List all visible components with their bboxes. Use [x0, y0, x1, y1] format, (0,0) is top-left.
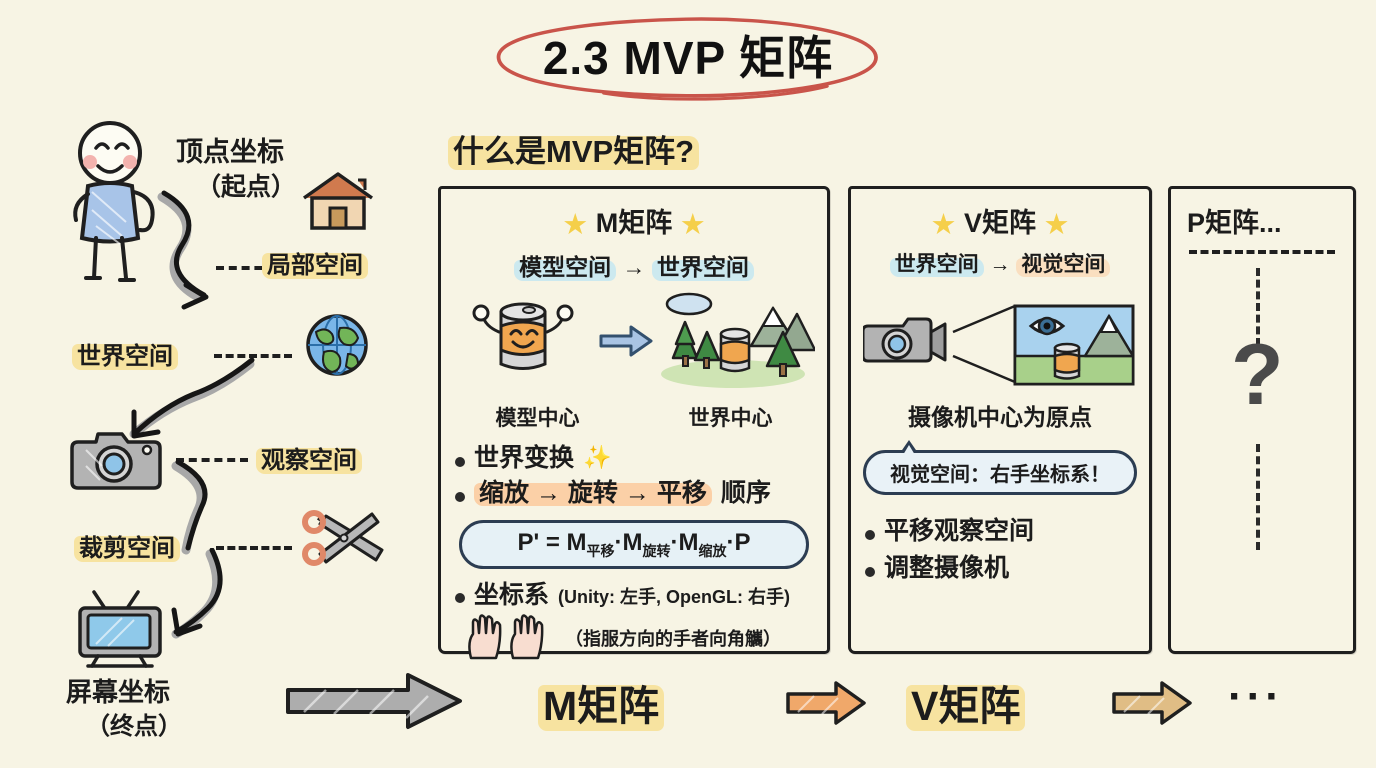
gray-arrow [284, 672, 464, 730]
flow-label-view-space: 观察空间 [256, 440, 362, 475]
camera-icon [68, 424, 164, 497]
card-m-title: M矩阵 [596, 208, 673, 238]
card-v-bullet-2-text: 调整摄像机 [884, 554, 1009, 583]
seq-rotate: 旋转 [568, 479, 618, 507]
page-title: 2.3 MVP 矩阵 [543, 22, 833, 88]
formula-rhs: ·P [727, 529, 751, 556]
card-m-title-row: ★ M矩阵 ★ [441, 201, 827, 242]
card-m-subtitle-from: 模型空间 [514, 248, 616, 282]
star-left-icon: ★ [930, 209, 956, 241]
flow-label-view-space-text: 观察空间 [256, 440, 362, 475]
section-heading-text: 什么是MVP矩阵? [448, 126, 699, 171]
card-m-matrix: ★ M矩阵 ★ 模型空间 → 世界空间 [438, 186, 830, 654]
card-m-coord-note: (Unity: 左手, OpenGL: 右手) [558, 587, 790, 608]
star-left-icon: ★ [562, 209, 588, 241]
can-character-icon [467, 292, 597, 388]
bullet-dot-icon [455, 492, 465, 502]
card-m-hands-note: （指服方向的手者向角觿） [565, 625, 781, 651]
star-right-icon: ★ [1044, 209, 1070, 241]
card-m-bullet-2: 缩放 → 旋转 → 平移 顺序 [455, 479, 827, 508]
orange-arrow [784, 680, 868, 726]
bottom-label-m: M矩阵 [538, 672, 664, 732]
sparkle-star-icon: ✨ [583, 444, 612, 470]
card-m-captions: 模型中心 世界中心 [441, 402, 827, 432]
infographic-canvas: 2.3 MVP 矩阵 顶点坐标 （起点） 局部空 [0, 0, 1376, 768]
flow-label-vertex: 顶点坐标 [176, 130, 284, 169]
card-v-title: V矩阵 [964, 208, 1036, 238]
card-v-diagram [851, 288, 1149, 392]
bottom-label-m-text: M矩阵 [538, 672, 664, 732]
star-right-icon: ★ [680, 209, 706, 241]
flow-sublabel-screen: （终点） [86, 706, 182, 741]
world-scene-icon [655, 288, 815, 392]
bullet-dot-icon [455, 593, 465, 603]
card-m-seq: 缩放 → 旋转 → 平移 [474, 479, 712, 508]
card-v-caption: 摄像机中心为原点 [851, 398, 1149, 432]
card-m-bullet-3: 坐标系 (Unity: 左手, OpenGL: 右手) [455, 581, 827, 610]
transform-arrow-icon [599, 324, 655, 358]
scissors-icon [300, 508, 386, 575]
bullet-dot-icon [455, 457, 465, 467]
formula-mid-2: ·M [671, 529, 699, 556]
card-m-caption-world: 世界中心 [689, 402, 773, 432]
flow-label-screen: 屏幕坐标 [66, 672, 170, 709]
flow-arrow-1-icon [150, 185, 280, 325]
flow-label-clip-space: 裁剪空间 [74, 528, 180, 563]
seq-arrow-1: → [536, 479, 561, 507]
card-p-matrix: P矩阵... ? [1168, 186, 1356, 654]
flow-label-world-space: 世界空间 [72, 336, 178, 371]
flow-arrow-3-icon [168, 460, 248, 560]
card-p-body: ? [1171, 268, 1353, 598]
formula-sub-translate: 平移 [587, 542, 615, 558]
card-v-matrix: ★ V矩阵 ★ 世界空间 → 视觉空间 [848, 186, 1152, 654]
flow-label-clip-space-text: 裁剪空间 [74, 528, 180, 563]
card-v-subtitle-arrow: → [990, 253, 1011, 276]
card-v-bullet-1-text: 平移观察空间 [884, 517, 1034, 546]
card-p-dash-lower [1256, 444, 1260, 550]
formula-sub-rotate: 旋转 [643, 542, 671, 558]
flow-label-local-space-text: 局部空间 [262, 245, 368, 280]
hand-palm-icon [461, 614, 547, 662]
bottom-label-v: V矩阵 [906, 672, 1025, 732]
card-m-diagram [441, 288, 827, 400]
section-heading: 什么是MVP矩阵? [448, 126, 699, 171]
card-m-hands-row: （指服方向的手者向角觿） [461, 614, 827, 662]
bottom-ellipsis: ··· [1228, 672, 1284, 722]
bullet-dot-icon [865, 530, 875, 540]
card-m-bullet-1-text: 世界变换 [474, 444, 574, 473]
formula-mid-1: ·M [615, 529, 643, 556]
house-icon [300, 168, 376, 239]
page-title-area: 2.3 MVP 矩阵 [0, 14, 1376, 100]
card-m-formula: P' = M平移·M旋转·M缩放·P [459, 520, 809, 570]
card-p-title: P矩阵... [1187, 201, 1353, 240]
seq-translate: 平移 [657, 479, 707, 507]
card-v-bullet-1: 平移观察空间 [865, 517, 1149, 546]
card-m-seq-suffix: 顺序 [721, 479, 771, 508]
flow-label-local-space: 局部空间 [262, 245, 368, 280]
card-v-speech-bubble: 视觉空间：右手坐标系！ [863, 450, 1137, 495]
page-title-wrapper: 2.3 MVP 矩阵 [491, 14, 885, 100]
card-m-subtitle-arrow: → [623, 254, 646, 280]
formula-sub-scale: 缩放 [699, 542, 727, 558]
flow-label-world-space-text: 世界空间 [72, 336, 178, 371]
tv-icon [72, 590, 176, 675]
seq-scale: 缩放 [479, 479, 529, 507]
card-m-bullet-1: 世界变换 ✨ [455, 444, 827, 473]
bullet-dot-icon [865, 567, 875, 577]
camera-frustum-icon [863, 300, 1143, 396]
card-v-subtitle-to: 视觉空间 [1016, 248, 1110, 278]
seq-arrow-2: → [625, 479, 650, 507]
formula-lhs: P' = M [517, 529, 586, 556]
card-p-divider [1189, 250, 1335, 254]
card-v-bullet-2: 调整摄像机 [865, 554, 1149, 583]
globe-icon [304, 312, 370, 383]
card-m-subtitle-to: 世界空间 [652, 248, 754, 282]
card-v-subtitle-from: 世界空间 [890, 248, 984, 278]
card-v-title-row: ★ V矩阵 ★ [851, 201, 1149, 242]
card-m-caption-model: 模型中心 [496, 402, 580, 432]
bottom-label-v-text: V矩阵 [906, 672, 1025, 732]
card-v-subtitle: 世界空间 → 视觉空间 [851, 248, 1149, 278]
tan-arrow [1110, 680, 1194, 726]
card-p-question-mark: ? [1231, 326, 1284, 425]
card-m-subtitle: 模型空间 → 世界空间 [441, 248, 827, 282]
card-m-coord-label: 坐标系 [474, 581, 549, 610]
